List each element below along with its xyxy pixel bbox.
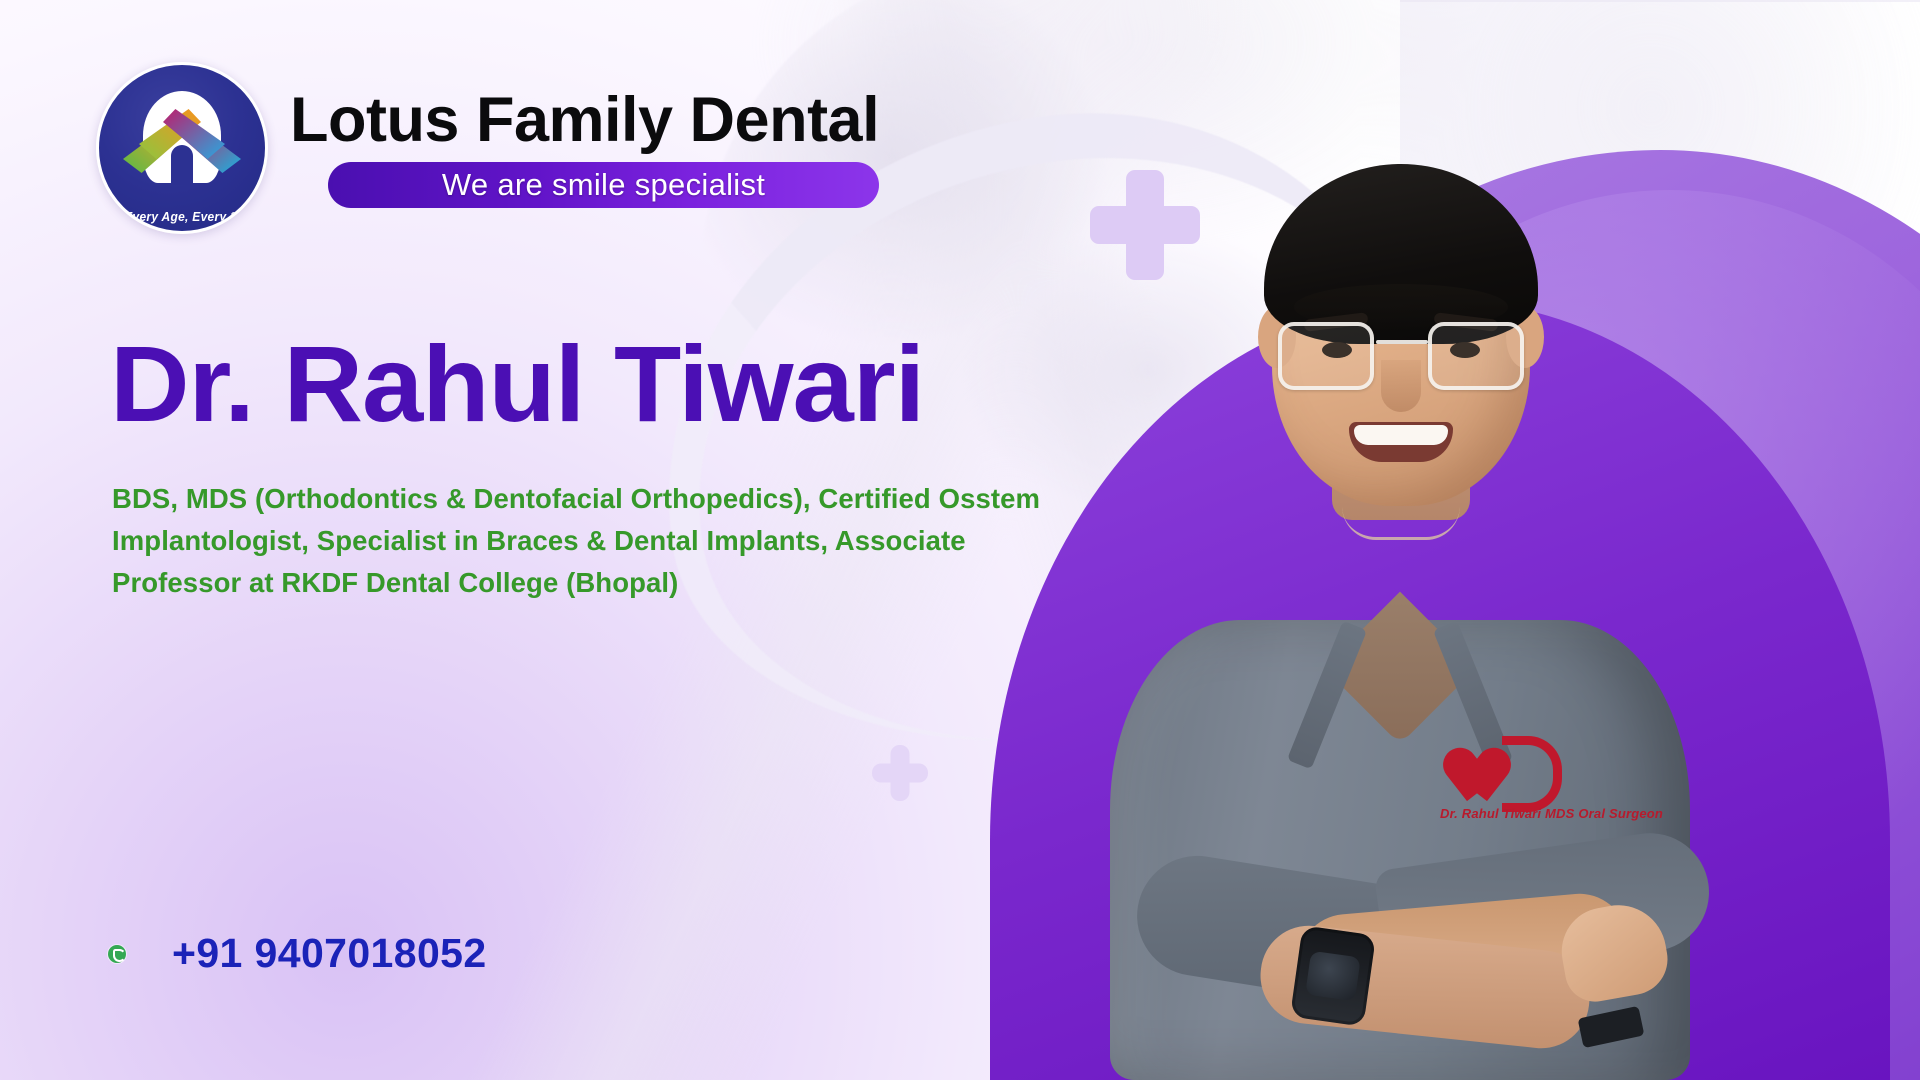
tagline-pill: We are smile specialist — [328, 162, 879, 208]
whatsapp-icon[interactable] — [108, 945, 126, 963]
tagline-text: We are smile specialist — [442, 167, 765, 203]
contact-row[interactable]: +91 9407018052 — [108, 930, 487, 977]
phone-number[interactable]: +91 9407018052 — [172, 930, 487, 977]
doctor-portrait-panel: Dr. Rahul Tiwari MDS Oral Surgeon — [960, 0, 1920, 1080]
glasses-bridge — [1376, 340, 1428, 344]
lotus-tooth-logo-icon[interactable]: For Every Age, Every Smile — [96, 62, 268, 234]
dental-clinic-banner: Dr. Rahul Tiwari MDS Oral Surgeon — [0, 0, 1920, 1080]
doctor-head — [1246, 154, 1556, 554]
lens-left — [1278, 322, 1374, 390]
doctor-name-heading: Dr. Rahul Tiwari — [110, 330, 924, 438]
doctor-credentials: BDS, MDS (Orthodontics & Dentofacial Ort… — [112, 478, 1087, 604]
logo-motto-arc: For Every Age, Every Smile — [99, 169, 265, 231]
doctor-photo: Dr. Rahul Tiwari MDS Oral Surgeon — [1050, 70, 1750, 1080]
logo-motto-text: For Every Age, Every Smile — [100, 210, 263, 224]
swirl-icon — [1502, 736, 1562, 812]
brand-text-block: Lotus Family Dental We are smile special… — [290, 88, 879, 207]
teeth — [1354, 425, 1448, 445]
clinic-name: Lotus Family Dental — [290, 88, 879, 152]
smiling-mouth — [1349, 422, 1453, 462]
doctor-hair — [1264, 164, 1538, 344]
wrist-watch — [1290, 925, 1376, 1026]
brand-header: For Every Age, Every Smile Lotus Family … — [96, 62, 879, 234]
lens-right — [1428, 322, 1524, 390]
doctor-body: Dr. Rahul Tiwari MDS Oral Surgeon — [1110, 540, 1690, 1080]
scrub-chest-logo: Dr. Rahul Tiwari MDS Oral Surgeon — [1440, 740, 1580, 850]
doctor-scrub-top: Dr. Rahul Tiwari MDS Oral Surgeon — [1110, 620, 1690, 1080]
scrub-logo-text: Dr. Rahul Tiwari MDS Oral Surgeon — [1440, 806, 1590, 822]
neck-chain — [1342, 506, 1460, 540]
nose — [1381, 360, 1421, 412]
medical-plus-icon-small — [872, 745, 928, 801]
